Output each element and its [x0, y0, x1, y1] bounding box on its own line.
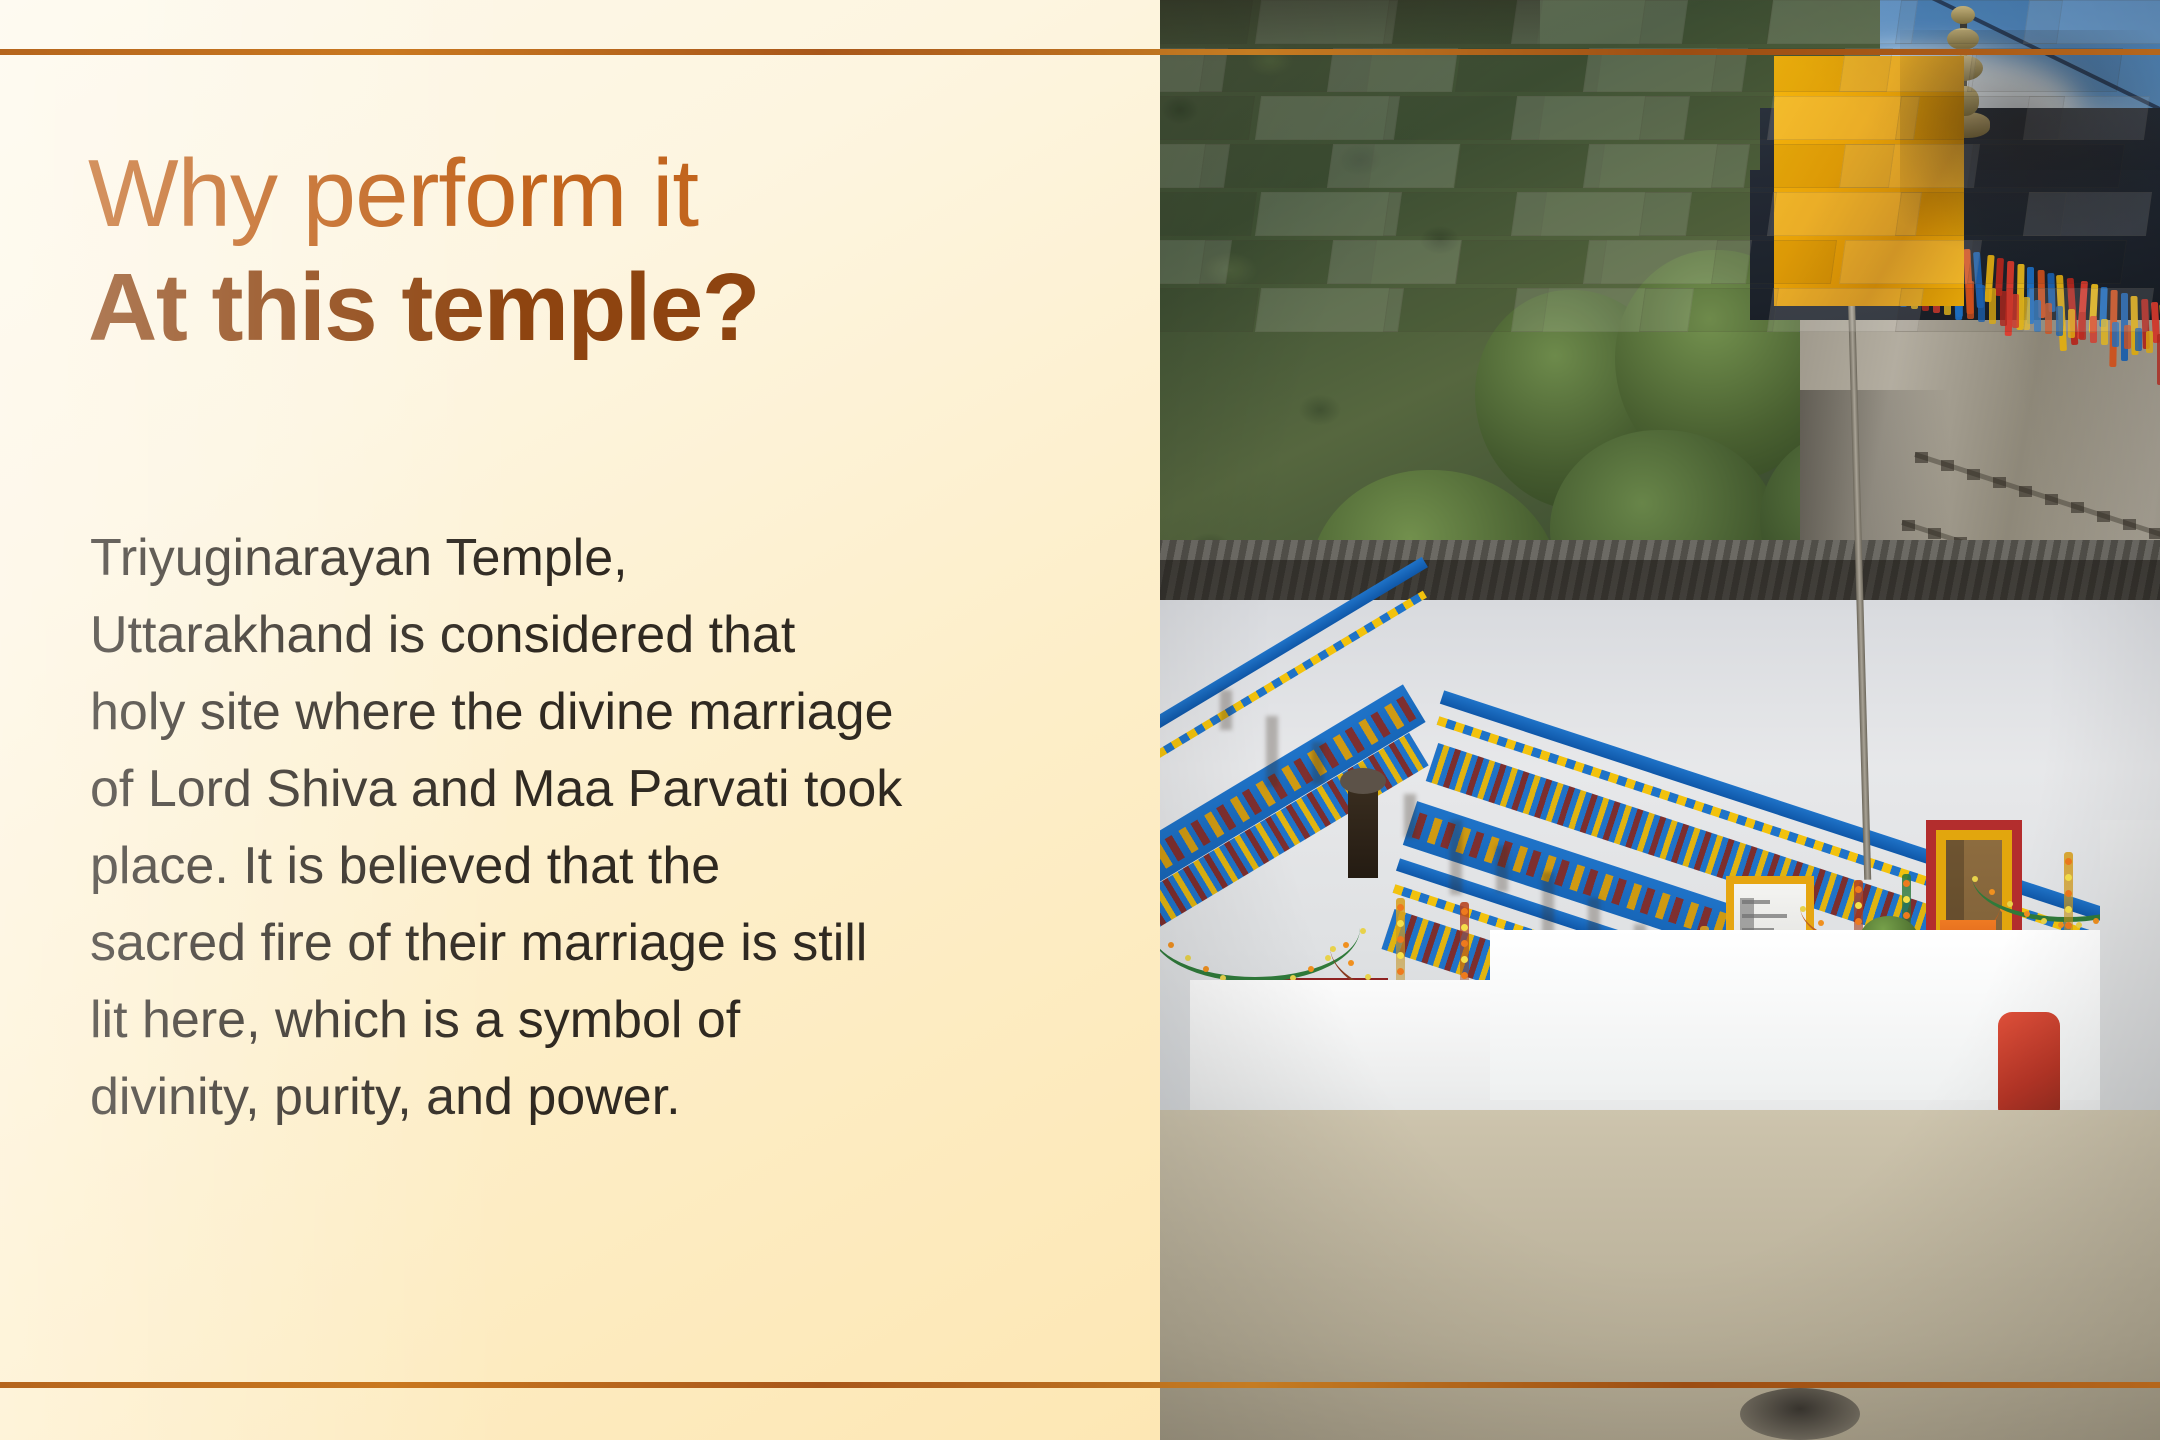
strand-bead: [1397, 920, 1404, 927]
cloth-fringe-strip: [2146, 331, 2153, 353]
garland-bead: [1203, 966, 1209, 972]
paragraph-line: lit here, which is a symbol of: [90, 982, 1100, 1059]
garland-bead: [1360, 928, 1366, 934]
strand-bead: [1461, 908, 1468, 915]
strand-bead: [1903, 912, 1910, 919]
strand-bead: [1855, 918, 1862, 925]
garland-bead: [2093, 918, 2099, 924]
page-title: Why perform it At this temple?: [88, 146, 1088, 356]
stone-courtyard: [1160, 1110, 2160, 1440]
strand-bead: [1855, 886, 1862, 893]
garland-bead: [1308, 966, 1314, 972]
garland-bead: [2024, 911, 2030, 917]
strand-bead: [1397, 904, 1404, 911]
beam-end-cap: [1340, 768, 1386, 794]
garland-bead: [2041, 918, 2047, 924]
right-wall: [2100, 820, 2160, 1150]
strand-bead: [1461, 972, 1468, 979]
strand-bead: [1461, 940, 1468, 947]
text-panel: Why perform it At this temple? Triyugina…: [0, 0, 1160, 1440]
paragraph-line: of Lord Shiva and Maa Parvati took: [90, 751, 1100, 828]
title-line-emphasis: At this temple?: [88, 260, 1088, 356]
wall-weather-streak: [1404, 794, 1416, 838]
slide-canvas: Why perform it At this temple? Triyugina…: [0, 0, 2160, 1440]
paragraph-line: sacred fire of their marriage is still: [90, 905, 1100, 982]
wall-weather-streak: [1312, 742, 1324, 784]
paragraph-line: Uttarakhand is considered that: [90, 597, 1100, 674]
strand-bead: [1461, 924, 1468, 931]
shikhara-notch: [1967, 469, 1980, 480]
garland-bead: [1972, 876, 1978, 882]
garland-bead: [1185, 955, 1191, 961]
garland-bead: [1800, 906, 1806, 912]
garland-bead: [1818, 920, 1824, 926]
strand-bead: [1461, 956, 1468, 963]
paragraph-line: holy site where the divine marriage: [90, 674, 1100, 751]
shikhara-notch: [2045, 494, 2058, 505]
shikhara-notch: [2071, 502, 2084, 513]
strand-bead: [2065, 874, 2072, 881]
shikhara-notch: [2019, 486, 2032, 497]
top-divider-rule: [0, 49, 2160, 55]
shikhara-notch: [1993, 477, 2006, 488]
wall-weather-streak: [1220, 690, 1232, 730]
strand-bead: [2065, 922, 2072, 929]
shikhara-notch: [2123, 519, 2136, 530]
bottom-divider-rule: [0, 1382, 2160, 1388]
wall-weather-streak: [1496, 846, 1508, 892]
strand-bead: [1903, 896, 1910, 903]
wall-weather-streak: [1266, 716, 1278, 787]
shikhara-notch: [2097, 511, 2110, 522]
strand-bead: [1397, 936, 1404, 943]
paragraph-line: divinity, purity, and power.: [90, 1059, 1100, 1136]
strand-bead: [2065, 906, 2072, 913]
garland-bead: [2007, 901, 2013, 907]
strand-bead: [1903, 880, 1910, 887]
title-line-primary: Why perform it: [88, 146, 1088, 242]
wall-weather-streak: [1450, 820, 1462, 895]
red-bundle: [1998, 1012, 2060, 1122]
wooden-beam-stub: [1348, 782, 1378, 878]
body-paragraph: Triyuginarayan Temple, Uttarakhand is co…: [90, 520, 1100, 1136]
garland-bead: [2076, 922, 2082, 928]
strand-bead: [1855, 902, 1862, 909]
paragraph-line: place. It is believed that the: [90, 828, 1100, 905]
paragraph-line: Triyuginarayan Temple,: [90, 520, 1100, 597]
temple-photograph: [1160, 0, 2160, 1440]
strand-bead: [1397, 952, 1404, 959]
strand-bead: [1397, 968, 1404, 975]
garland-bead: [1325, 955, 1331, 961]
drain-cover: [1740, 1388, 1860, 1440]
garland-bead: [1330, 946, 1336, 952]
strand-bead: [2065, 890, 2072, 897]
strand-bead: [2065, 858, 2072, 865]
garland-bead: [1168, 942, 1174, 948]
shikhara-notch: [2149, 528, 2160, 539]
